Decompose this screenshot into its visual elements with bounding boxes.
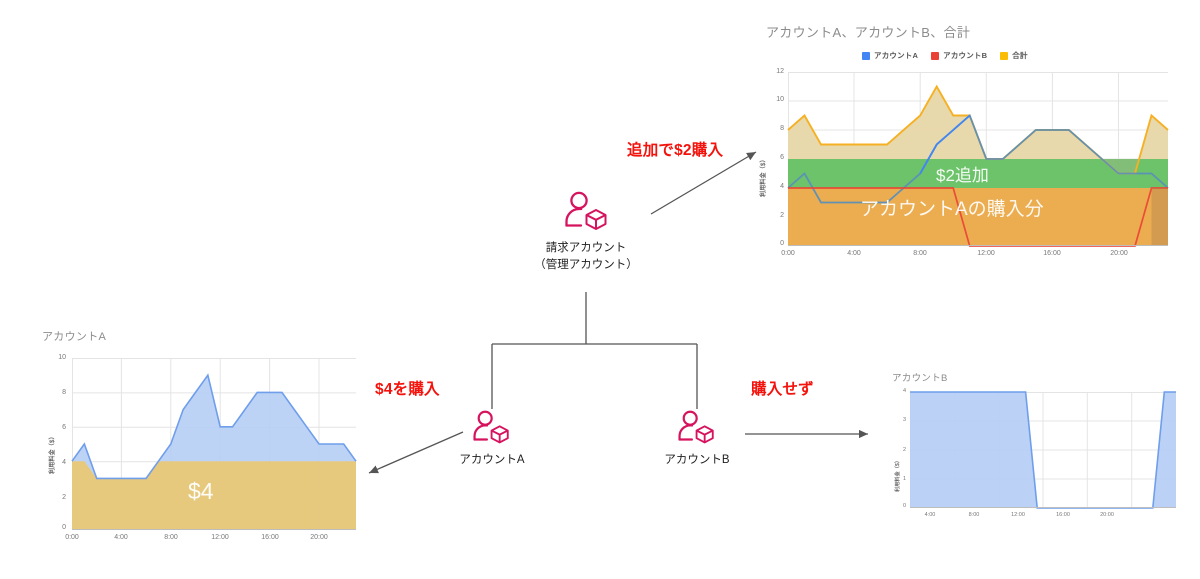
- x-tick: 20:00: [305, 534, 333, 541]
- chart-account-b: アカウントB 利用料金（$） 4 3 2 1 0 4: [886, 370, 1186, 535]
- y-tick: 2: [762, 212, 784, 219]
- chart-account-a-ylabel: 利用料金（$）: [47, 433, 56, 474]
- x-tick: 8:00: [962, 512, 986, 518]
- billing-account-node: [560, 190, 614, 234]
- x-tick: 8:00: [906, 250, 934, 257]
- legend-swatch-icon: [862, 52, 870, 60]
- chart-account-b-plot: [910, 392, 1176, 508]
- x-tick: 16:00: [1051, 512, 1075, 518]
- x-tick: 4:00: [918, 512, 942, 518]
- y-tick: 3: [892, 417, 906, 423]
- y-tick: 0: [46, 524, 66, 531]
- x-tick: 12:00: [206, 534, 234, 541]
- chart-combined-band-label-add: $2追加: [936, 161, 989, 186]
- legend-item-account-a[interactable]: アカウントA: [862, 50, 918, 61]
- legend-swatch-icon: [1000, 52, 1008, 60]
- chart-account-a-title: アカウントA: [42, 328, 106, 344]
- x-tick: 4:00: [840, 250, 868, 257]
- x-tick: 4:00: [107, 534, 135, 541]
- y-tick: 10: [46, 354, 66, 361]
- y-tick: 8: [762, 125, 784, 132]
- y-tick: 4: [892, 388, 906, 394]
- account-b-label: アカウントB: [637, 452, 757, 469]
- y-tick: 0: [762, 240, 784, 247]
- annotation-purchase-four: $4を購入: [375, 377, 440, 399]
- user-box-icon: [674, 409, 720, 447]
- legend-label: アカウントA: [874, 50, 918, 61]
- chart-combined-band-label-purchase: アカウントAの購入分: [860, 194, 1044, 221]
- chart-combined-legend: アカウントA アカウントB 合計: [862, 50, 1028, 61]
- legend-swatch-icon: [931, 52, 939, 60]
- x-tick: 12:00: [1006, 512, 1030, 518]
- y-tick: 2: [46, 494, 66, 501]
- y-tick: 6: [46, 424, 66, 431]
- legend-label: アカウントB: [943, 50, 987, 61]
- legend-label: 合計: [1012, 50, 1027, 61]
- chart-combined-plot: $2追加 アカウントAの購入分: [788, 72, 1168, 246]
- x-tick: 8:00: [157, 534, 185, 541]
- user-box-icon: [469, 409, 515, 447]
- chart-combined: アカウントA、アカウントB、合計 アカウントA アカウントB 合計 利用料金（$…: [758, 22, 1178, 272]
- x-tick: 12:00: [972, 250, 1000, 257]
- chart-account-a-annotation: $4: [188, 478, 214, 505]
- billing-account-label-line1: 請求アカウント: [486, 240, 686, 257]
- account-b-node: [674, 409, 720, 447]
- x-tick: 0:00: [774, 250, 802, 257]
- y-tick: 8: [46, 389, 66, 396]
- y-tick: 4: [46, 459, 66, 466]
- y-tick: 4: [762, 183, 784, 190]
- chart-account-b-ylabel: 利用料金（$）: [894, 458, 901, 492]
- x-tick: 20:00: [1095, 512, 1119, 518]
- chart-combined-ylabel: 利用料金（$）: [758, 156, 767, 197]
- legend-item-account-b[interactable]: アカウントB: [931, 50, 987, 61]
- annotation-purchase-additional: 追加で$2購入: [627, 138, 723, 160]
- chart-combined-title: アカウントA、アカウントB、合計: [766, 22, 970, 41]
- billing-account-label: 請求アカウント （管理アカウント）: [486, 240, 686, 273]
- y-tick: 10: [762, 96, 784, 103]
- x-tick: 0:00: [58, 534, 86, 541]
- account-a-node: [469, 409, 515, 447]
- billing-account-label-line2: （管理アカウント）: [486, 257, 686, 274]
- y-tick: 12: [762, 68, 784, 75]
- annotation-no-purchase: 購入せず: [751, 377, 814, 399]
- y-tick: 2: [892, 447, 906, 453]
- user-box-icon: [560, 190, 614, 234]
- y-tick: 6: [762, 154, 784, 161]
- y-tick: 0: [892, 503, 906, 509]
- x-tick: 16:00: [1038, 250, 1066, 257]
- x-tick: 20:00: [1105, 250, 1133, 257]
- account-a-label: アカウントA: [432, 452, 552, 469]
- x-tick: 16:00: [256, 534, 284, 541]
- legend-item-total[interactable]: 合計: [1000, 50, 1027, 61]
- chart-account-b-title: アカウントB: [892, 370, 948, 384]
- y-tick: 1: [892, 476, 906, 482]
- chart-account-a-plot: $4: [72, 358, 356, 530]
- chart-account-a: アカウントA 利用料金（$） 10 8 6 4 2 0: [36, 328, 366, 538]
